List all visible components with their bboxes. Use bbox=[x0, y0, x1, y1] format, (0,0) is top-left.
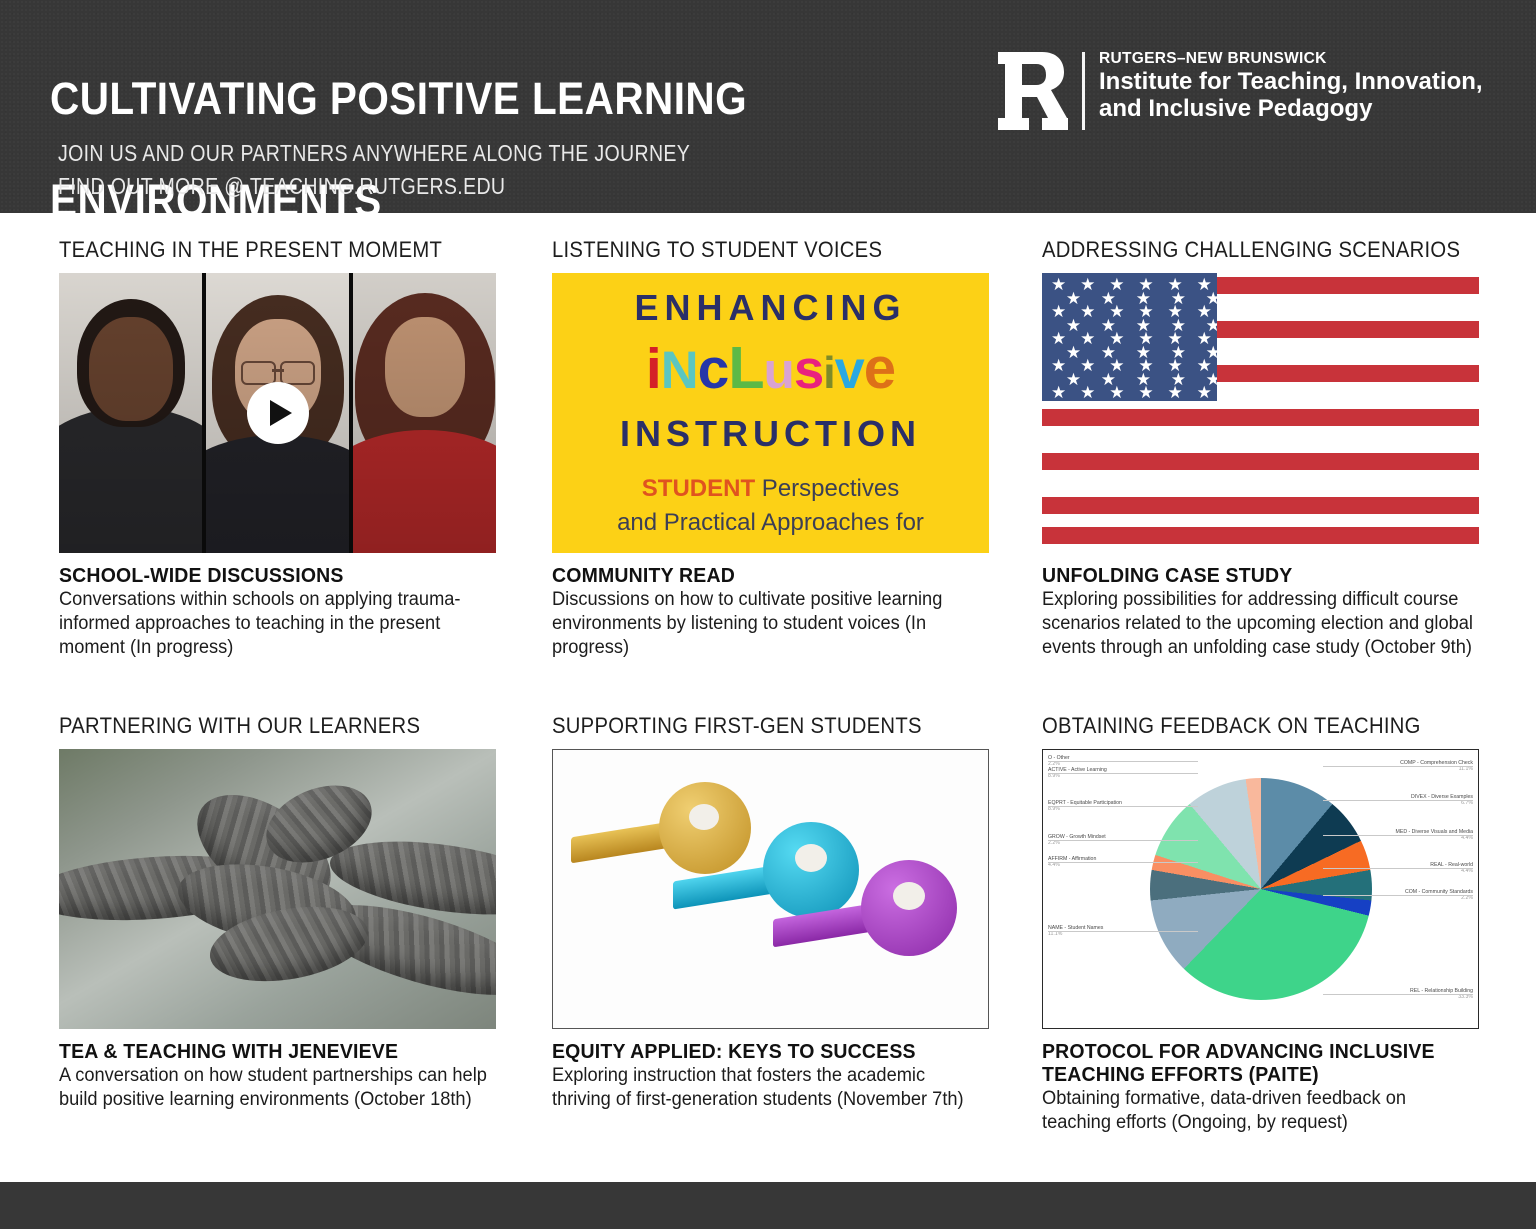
card-title: SCHOOL-WIDE DISCUSSIONS bbox=[59, 564, 485, 587]
speaker-3 bbox=[353, 273, 496, 553]
header-subtitle-1: JOIN US AND OUR PARTNERS ANYWHERE ALONG … bbox=[58, 140, 690, 167]
pie-leader-line bbox=[1323, 895, 1473, 896]
card-description: A conversation on how student partnershi… bbox=[59, 1064, 496, 1112]
cover-line-instruction: INSTRUCTION bbox=[552, 413, 989, 455]
flag-star-icon: ★ bbox=[1197, 384, 1212, 401]
logo-line-2: Institute for Teaching, Innovation, bbox=[1099, 68, 1483, 95]
card-unfolding-case-study[interactable]: ADDRESSING CHALLENGING SCENARIOS ★★★★★★★… bbox=[1042, 237, 1490, 660]
card-kicker: LISTENING TO STUDENT VOICES bbox=[552, 237, 964, 263]
card-kicker: OBTAINING FEEDBACK ON TEACHING bbox=[1042, 713, 1454, 739]
page-header: CULTIVATING POSITIVE LEARNING ENVIRONMEN… bbox=[0, 0, 1536, 213]
pie-leader-line bbox=[1048, 862, 1198, 863]
flag-star-icon: ★ bbox=[1138, 384, 1153, 401]
video-thumbnail[interactable] bbox=[59, 273, 496, 553]
logo-wordmark: RUTGERS–NEW BRUNSWICK Institute for Teac… bbox=[1099, 50, 1483, 122]
enhancing-inclusive-instruction-cover: ENHANCING iNcLusive INSTRUCTION STUDENT … bbox=[552, 273, 989, 553]
cover-letter-8: e bbox=[864, 340, 895, 397]
pie-chart[interactable]: COMP - Comprehension Check11.1%DIVEX - D… bbox=[1042, 749, 1479, 1029]
card-title: PROTOCOL FOR ADVANCING INCLUSIVE TEACHIN… bbox=[1042, 1040, 1468, 1086]
logo-divider bbox=[1082, 52, 1085, 130]
three-keys-photo bbox=[553, 750, 988, 1028]
pie-label-percent: 33.3% bbox=[1410, 994, 1473, 1000]
flag-stripe bbox=[1042, 453, 1479, 470]
flag-star-icon: ★ bbox=[1167, 384, 1182, 401]
flag-stripe bbox=[1042, 497, 1479, 514]
card-description: Conversations within schools on applying… bbox=[59, 588, 496, 660]
logo-line-3: and Inclusive Pedagogy bbox=[1099, 95, 1483, 122]
pie-leader-line bbox=[1048, 773, 1198, 774]
cover-line-enhancing: ENHANCING bbox=[552, 287, 989, 329]
pie-leader-line bbox=[1048, 931, 1198, 932]
card-description: Exploring possibilities for addressing d… bbox=[1042, 588, 1479, 660]
flag-star-icon: ★ bbox=[1109, 384, 1124, 401]
pie-leader-line bbox=[1048, 840, 1198, 841]
card-school-wide-discussions[interactable]: TEACHING IN THE PRESENT MOMEMT bbox=[59, 237, 507, 660]
pie-leader-line bbox=[1323, 766, 1473, 767]
card-description: Obtaining formative, data-driven feedbac… bbox=[1042, 1087, 1479, 1135]
card-title: UNFOLDING CASE STUDY bbox=[1042, 564, 1468, 587]
pie-leader-line bbox=[1048, 806, 1198, 807]
pie-label-percent: 8.9% bbox=[1048, 806, 1122, 812]
cover-letter-7: v bbox=[835, 342, 864, 399]
card-community-read[interactable]: LISTENING TO STUDENT VOICES ENHANCING iN… bbox=[552, 237, 1000, 660]
card-kicker: SUPPORTING FIRST-GEN STUDENTS bbox=[552, 713, 964, 739]
cover-subtitle-perspectives: Perspectives bbox=[755, 475, 899, 502]
logo-line-1: RUTGERS–NEW BRUNSWICK bbox=[1099, 50, 1483, 68]
rope-knot-photo bbox=[59, 749, 496, 1029]
book-cover-image[interactable]: ENHANCING iNcLusive INSTRUCTION STUDENT … bbox=[552, 273, 989, 553]
pie-leader-line bbox=[1323, 994, 1473, 995]
pie-leader-line bbox=[1048, 761, 1198, 762]
keys-image[interactable] bbox=[552, 749, 989, 1029]
pie-leader-line bbox=[1323, 800, 1473, 801]
pie-graphic bbox=[1150, 778, 1372, 1000]
rutgers-itip-logo: RUTGERS–NEW BRUNSWICK Institute for Teac… bbox=[996, 50, 1483, 132]
speaker-1 bbox=[59, 273, 206, 553]
cover-subtitle-line-2: and Practical Approaches for bbox=[552, 509, 989, 537]
us-flag-image[interactable]: ★★★★★★★★★★★★★★★★★★★★★★★★★★★★★★★★★★★★★★★★… bbox=[1042, 273, 1479, 553]
pie-label-percent: 4.4% bbox=[1396, 835, 1473, 841]
flag-star-icon: ★ bbox=[1051, 384, 1066, 401]
pie-label-percent: 6.7% bbox=[1411, 800, 1473, 806]
card-paite[interactable]: OBTAINING FEEDBACK ON TEACHING COMP - Co… bbox=[1042, 713, 1490, 1135]
flag-stripe bbox=[1042, 409, 1479, 426]
card-description: Discussions on how to cultivate positive… bbox=[552, 588, 989, 660]
card-title: EQUITY APPLIED: KEYS TO SUCCESS bbox=[552, 1040, 978, 1063]
pie-leader-line bbox=[1323, 835, 1473, 836]
cover-letter-3: L bbox=[728, 339, 763, 396]
pie-label-percent: 11.1% bbox=[1400, 766, 1473, 772]
page-title-line1: CULTIVATING POSITIVE LEARNING bbox=[50, 73, 747, 124]
pie-label-percent: 8.9% bbox=[1048, 773, 1107, 779]
card-kicker: PARTNERING WITH OUR LEARNERS bbox=[59, 713, 471, 739]
pie-label-percent: 2.2% bbox=[1048, 761, 1070, 767]
cover-word-inclusive: iNcLusive bbox=[552, 339, 989, 402]
cover-subtitle-student: STUDENT bbox=[642, 475, 755, 502]
flag-canton: ★★★★★★★★★★★★★★★★★★★★★★★★★★★★★★★★★★★★★★★★… bbox=[1042, 273, 1217, 401]
rutgers-r-icon bbox=[996, 50, 1068, 132]
page-footer-band bbox=[0, 1182, 1536, 1229]
flag-stripe bbox=[1042, 527, 1479, 544]
cover-subtitle-line-1: STUDENT Perspectives bbox=[552, 475, 989, 503]
flag-star-icon: ★ bbox=[1080, 384, 1095, 401]
cover-letter-5: s bbox=[794, 341, 823, 398]
cover-letter-1: N bbox=[661, 343, 698, 400]
header-subtitle-2: FIND OUT MORE @ TEACHING.RUTGERS.EDU bbox=[58, 173, 505, 200]
cover-letter-6: i bbox=[823, 345, 834, 402]
card-grid: TEACHING IN THE PRESENT MOMEMT bbox=[0, 213, 1536, 1182]
card-title: TEA & TEACHING WITH JENEVIEVE bbox=[59, 1040, 485, 1063]
card-tea-and-teaching[interactable]: PARTNERING WITH OUR LEARNERS TEA & TEACH… bbox=[59, 713, 507, 1112]
cover-letter-2: c bbox=[698, 341, 729, 398]
card-kicker: ADDRESSING CHALLENGING SCENARIOS bbox=[1042, 237, 1454, 263]
cover-letter-4: u bbox=[764, 342, 794, 399]
pie-label-percent: 2.2% bbox=[1048, 840, 1106, 846]
pie-label-percent: 2.2% bbox=[1405, 895, 1473, 901]
card-equity-applied[interactable]: SUPPORTING FIRST-GEN STUDENTS bbox=[552, 713, 1000, 1112]
card-kicker: TEACHING IN THE PRESENT MOMEMT bbox=[59, 237, 471, 263]
pie-label-percent: 4.4% bbox=[1048, 862, 1096, 868]
card-title: COMMUNITY READ bbox=[552, 564, 978, 587]
card-description: Exploring instruction that fosters the a… bbox=[552, 1064, 989, 1112]
rope-knot-image[interactable] bbox=[59, 749, 496, 1029]
play-button-icon[interactable] bbox=[247, 382, 309, 444]
us-flag-graphic: ★★★★★★★★★★★★★★★★★★★★★★★★★★★★★★★★★★★★★★★★… bbox=[1042, 273, 1479, 553]
cover-letter-0: i bbox=[646, 341, 661, 398]
pie-label-percent: 4.4% bbox=[1430, 868, 1473, 874]
pie-leader-line bbox=[1323, 868, 1473, 869]
pie-label-percent: 11.1% bbox=[1048, 931, 1103, 937]
